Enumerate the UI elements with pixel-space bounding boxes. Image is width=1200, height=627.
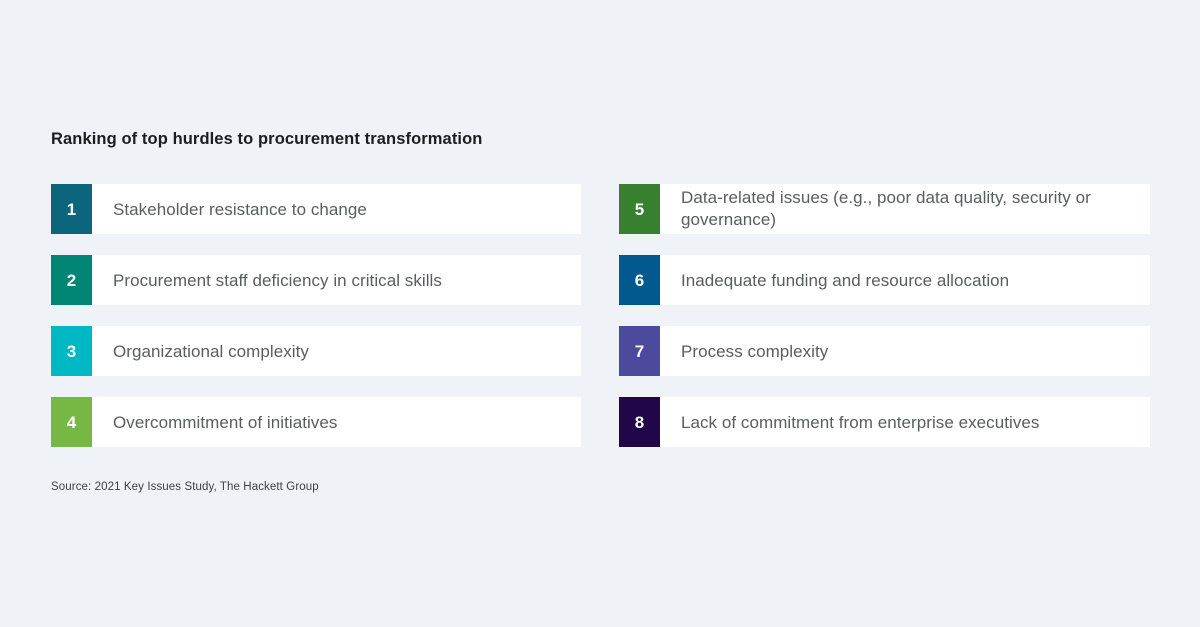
ranking-row[interactable]: 6Inadequate funding and resource allocat… [619,255,1150,305]
rank-label: Data-related issues (e.g., poor data qua… [660,184,1150,234]
source-note: Source: 2021 Key Issues Study, The Hacke… [51,481,319,493]
rank-badge: 8 [619,397,660,447]
rank-badge: 2 [51,255,92,305]
rank-label: Inadequate funding and resource allocati… [660,255,1150,305]
rank-badge: 6 [619,255,660,305]
rank-badge: 1 [51,184,92,234]
rank-badge: 5 [619,184,660,234]
ranking-row[interactable]: 5Data-related issues (e.g., poor data qu… [619,184,1150,234]
ranking-column-left: 1Stakeholder resistance to change2Procur… [51,184,581,447]
rank-label: Organizational complexity [92,326,581,376]
ranking-infographic: Ranking of top hurdles to procurement tr… [0,0,1200,627]
ranking-row[interactable]: 2Procurement staff deficiency in critica… [51,255,581,305]
ranking-row[interactable]: 8Lack of commitment from enterprise exec… [619,397,1150,447]
rank-badge: 4 [51,397,92,447]
rank-badge: 3 [51,326,92,376]
rank-label: Overcommitment of initiatives [92,397,581,447]
rank-badge: 7 [619,326,660,376]
page-title: Ranking of top hurdles to procurement tr… [51,130,482,149]
ranking-row[interactable]: 7Process complexity [619,326,1150,376]
ranking-row[interactable]: 1Stakeholder resistance to change [51,184,581,234]
ranking-column-right: 5Data-related issues (e.g., poor data qu… [619,184,1150,447]
rank-label: Process complexity [660,326,1150,376]
rank-label: Procurement staff deficiency in critical… [92,255,581,305]
ranking-row[interactable]: 4Overcommitment of initiatives [51,397,581,447]
ranking-row[interactable]: 3Organizational complexity [51,326,581,376]
rank-label: Stakeholder resistance to change [92,184,581,234]
rank-label: Lack of commitment from enterprise execu… [660,397,1150,447]
